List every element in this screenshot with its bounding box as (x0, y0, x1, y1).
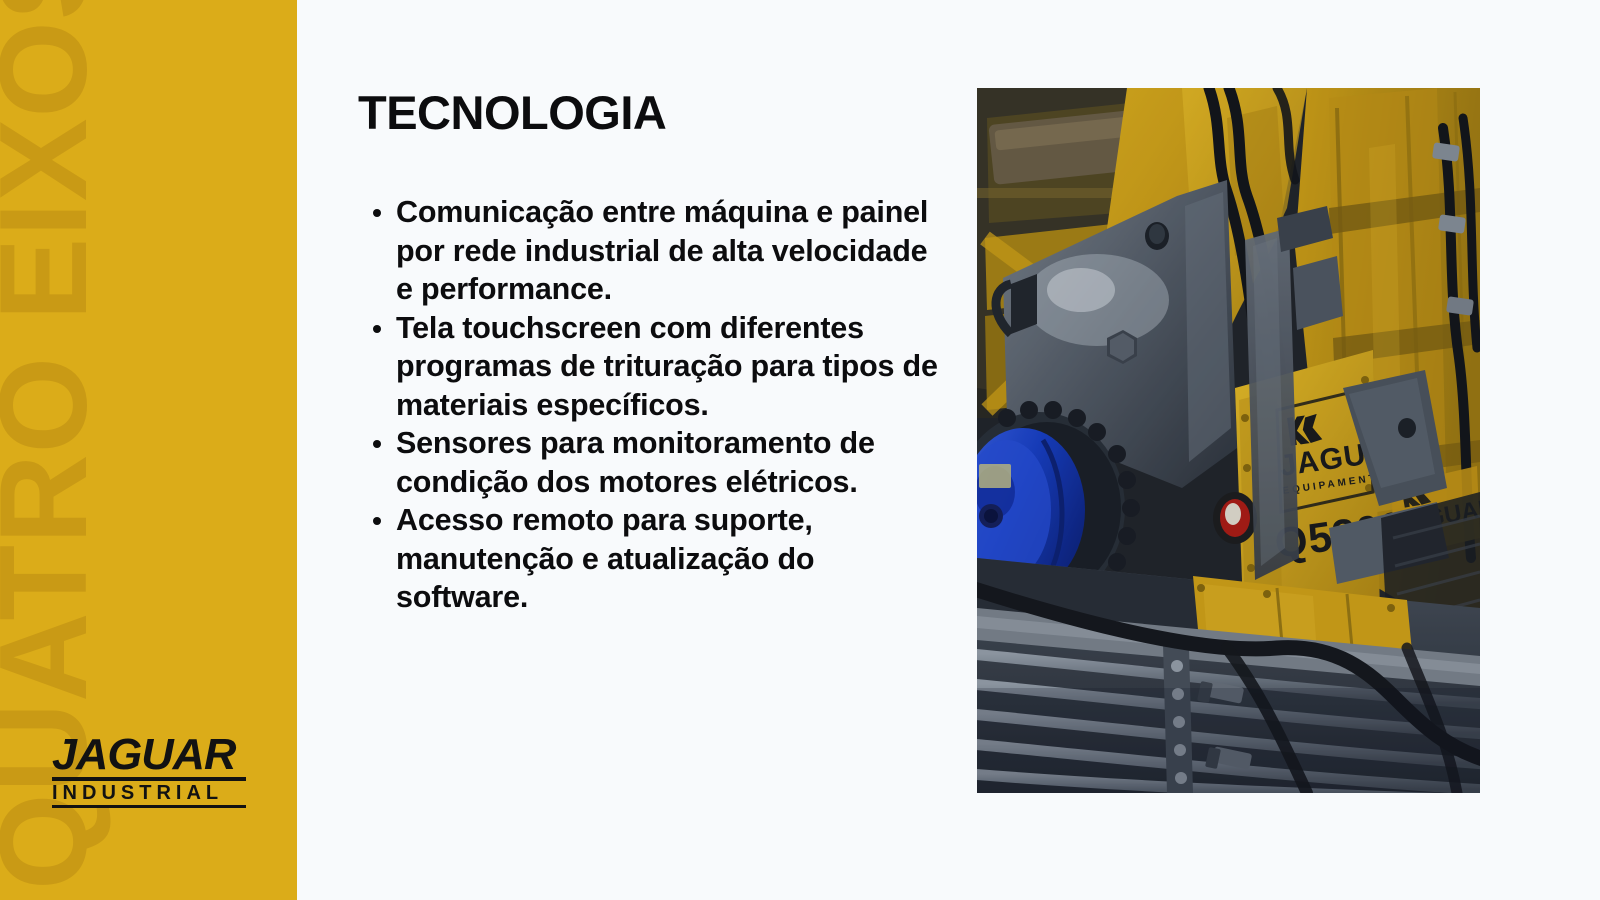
content-column: TECNOLOGIA Comunicação entre máquina e p… (358, 88, 938, 617)
slide-root: QUATRO EIXOS JAGUAR INDUSTRIAL TECNOLOGI… (0, 0, 1600, 900)
logo-divider-bottom (52, 805, 246, 808)
sidebar: QUATRO EIXOS JAGUAR INDUSTRIAL (0, 0, 297, 900)
logo-wordmark: JAGUAR (52, 734, 252, 776)
jaguar-industrial-logo: JAGUAR INDUSTRIAL (52, 734, 248, 808)
feature-bullet-list: Comunicação entre máquina e painel por r… (358, 193, 938, 617)
list-item: Comunicação entre máquina e painel por r… (358, 193, 938, 309)
page-title: TECNOLOGIA (358, 88, 938, 137)
machine-photo: JAGUAR EQUIPAMENTOS Q5300 JAGUAR (977, 88, 1480, 793)
list-item: Acesso remoto para suporte, manutenção e… (358, 501, 938, 617)
logo-subtitle: INDUSTRIAL (52, 783, 248, 804)
machine-photo-illustration: JAGUAR EQUIPAMENTOS Q5300 JAGUAR (977, 88, 1480, 793)
list-item: Sensores para monitoramento de condição … (358, 424, 938, 501)
list-item: Tela touchscreen com diferentes programa… (358, 309, 938, 425)
